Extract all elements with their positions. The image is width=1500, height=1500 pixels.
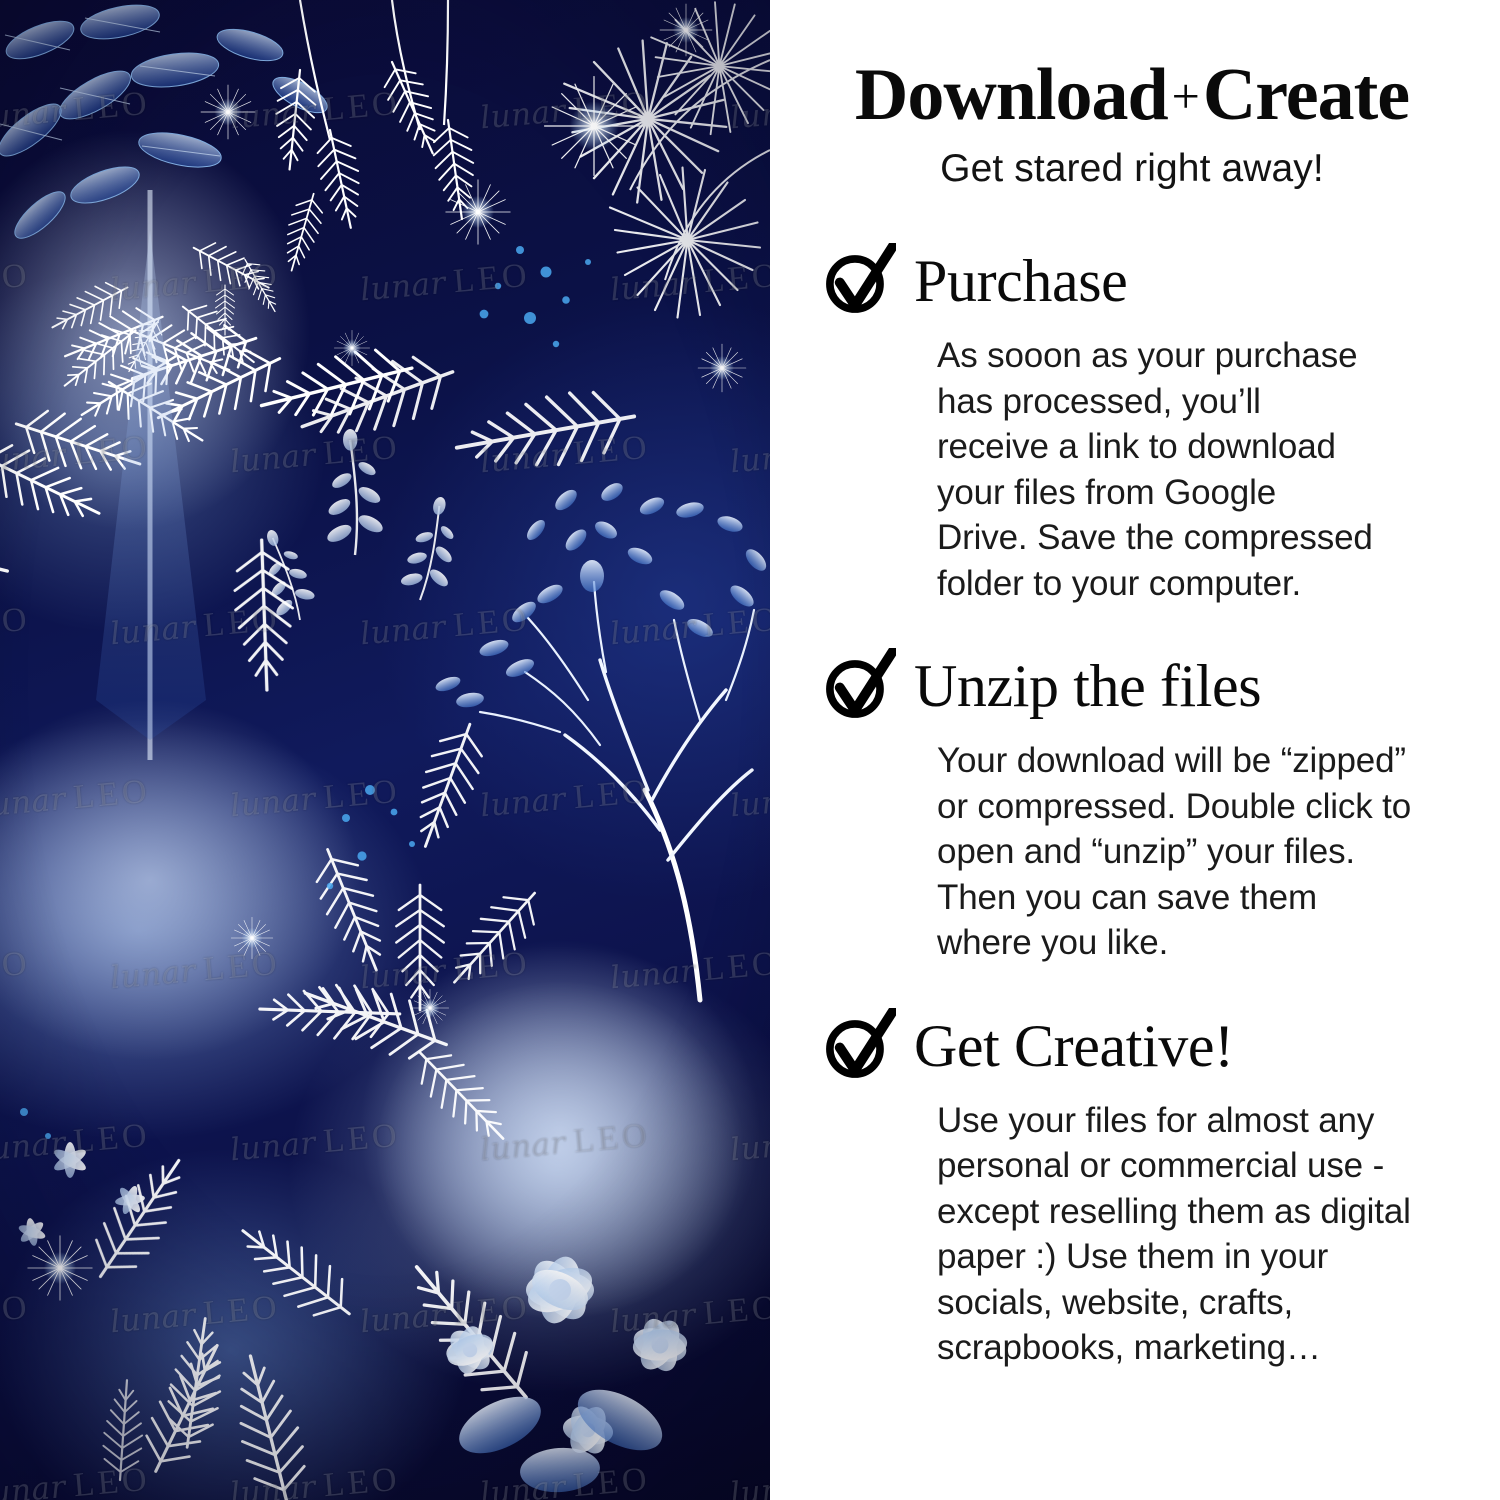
step-body: As sooon as your purchasehas processed, … bbox=[937, 333, 1456, 606]
instructions-panel: Download+Create Get stared right away! P… bbox=[770, 0, 1500, 1500]
step-body-line: personal or commercial use - bbox=[937, 1143, 1456, 1189]
step-body-line: has processed, you’ll bbox=[937, 379, 1456, 425]
title-download: Download bbox=[855, 54, 1168, 136]
check-circle-icon bbox=[820, 648, 896, 724]
step-3: Get Creative!Use your files for almost a… bbox=[808, 1008, 1456, 1371]
step-body-line: your files from Google bbox=[937, 470, 1456, 516]
step-header: Purchase bbox=[820, 243, 1456, 319]
step-body-line: open and “unzip” your files. bbox=[937, 829, 1456, 875]
step-title: Unzip the files bbox=[914, 656, 1261, 716]
step-body-line: Use your files for almost any bbox=[937, 1098, 1456, 1144]
step-body-line: Then you can save them bbox=[937, 875, 1456, 921]
title-plus: + bbox=[1168, 68, 1203, 124]
step-body-line: folder to your computer. bbox=[937, 561, 1456, 607]
step-1: PurchaseAs sooon as your purchasehas pro… bbox=[808, 243, 1456, 606]
step-2: Unzip the filesYour download will be “zi… bbox=[808, 648, 1456, 966]
page-subtitle: Get stared right away! bbox=[808, 147, 1456, 191]
step-body-line: except reselling them as digital bbox=[937, 1189, 1456, 1235]
step-body: Your download will be “zipped”or compres… bbox=[937, 738, 1456, 966]
step-body-line: where you like. bbox=[937, 920, 1456, 966]
artwork-panel: lunarLEOlunarLEOlunarLEOlunarLEOlunarLEO… bbox=[0, 0, 770, 1500]
step-title: Get Creative! bbox=[914, 1016, 1234, 1076]
title-create: Create bbox=[1203, 54, 1409, 136]
step-body: Use your files for almost anypersonal or… bbox=[937, 1098, 1456, 1371]
step-body-line: As sooon as your purchase bbox=[937, 333, 1456, 379]
step-title: Purchase bbox=[914, 251, 1127, 311]
step-body-line: paper :) Use them in your bbox=[937, 1234, 1456, 1280]
artwork-vignette bbox=[0, 0, 770, 1500]
steps-list: PurchaseAs sooon as your purchasehas pro… bbox=[808, 243, 1456, 1371]
promo-page: lunarLEOlunarLEOlunarLEOlunarLEOlunarLEO… bbox=[0, 0, 1500, 1500]
step-body-line: scrapbooks, marketing… bbox=[937, 1325, 1456, 1371]
check-circle-icon bbox=[820, 1008, 896, 1084]
step-header: Unzip the files bbox=[820, 648, 1456, 724]
step-header: Get Creative! bbox=[820, 1008, 1456, 1084]
page-title: Download+Create bbox=[808, 58, 1456, 133]
step-body-line: or compressed. Double click to bbox=[937, 784, 1456, 830]
step-body-line: Drive. Save the compressed bbox=[937, 515, 1456, 561]
check-circle-icon bbox=[820, 243, 896, 319]
step-body-line: Your download will be “zipped” bbox=[937, 738, 1456, 784]
step-body-line: receive a link to download bbox=[937, 424, 1456, 470]
step-body-line: socials, website, crafts, bbox=[937, 1280, 1456, 1326]
